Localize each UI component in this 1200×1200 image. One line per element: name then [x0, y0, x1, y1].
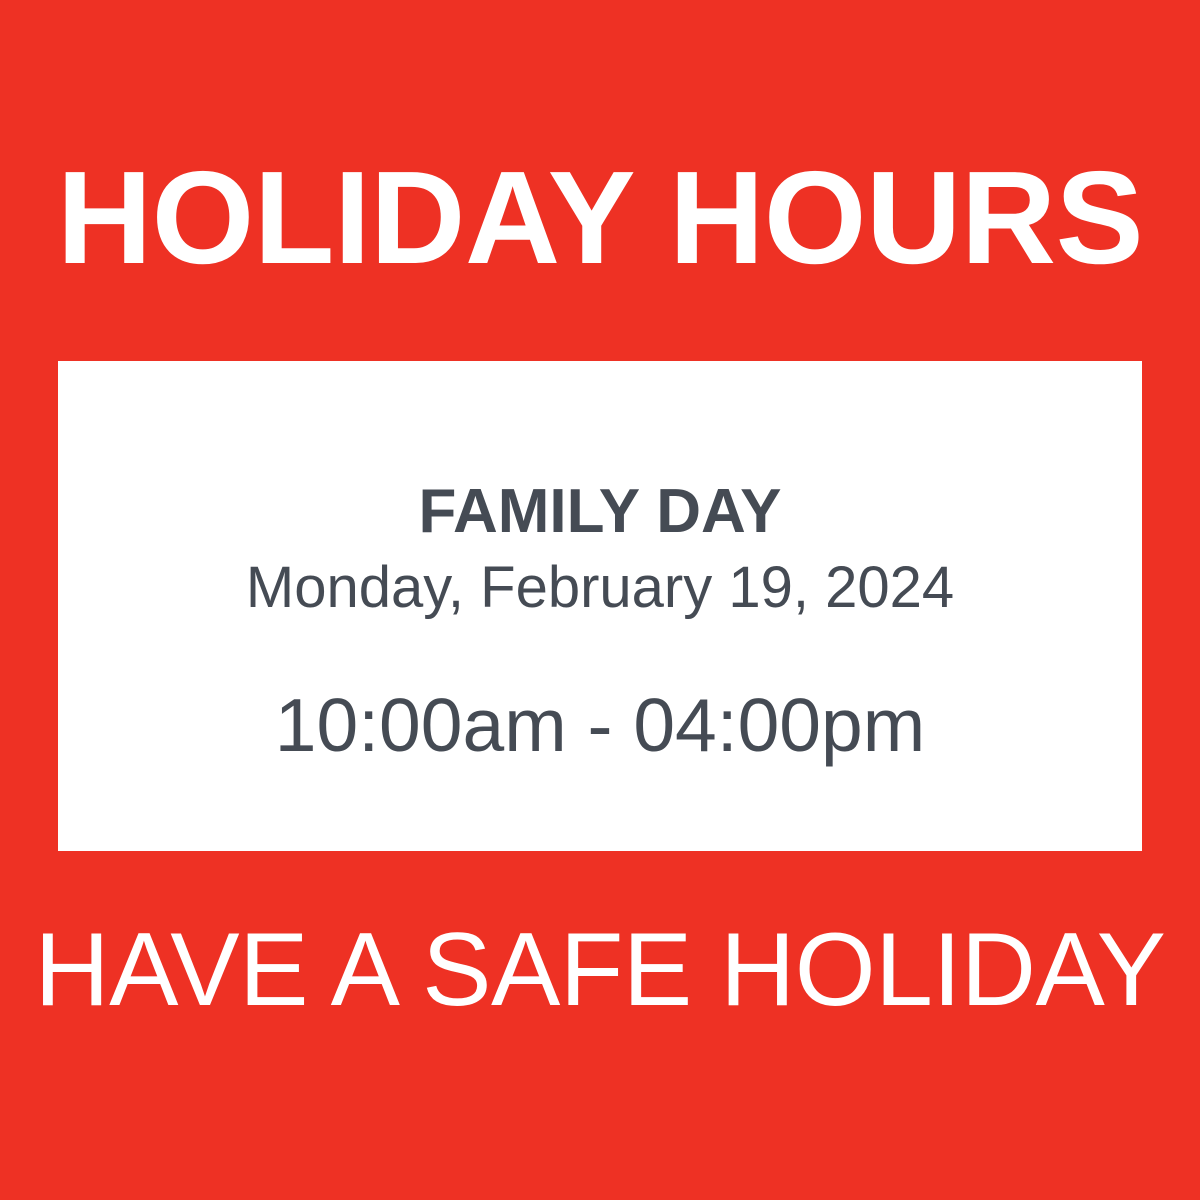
holiday-details-card: FAMILY DAY Monday, February 19, 2024 10:… — [58, 361, 1142, 851]
holiday-name: FAMILY DAY — [58, 479, 1142, 546]
holiday-hours-notice: HOLIDAY HOURS FAMILY DAY Monday, Februar… — [0, 0, 1200, 1200]
page-title: HOLIDAY HOURS — [0, 152, 1200, 284]
holiday-hours-range: 10:00am - 04:00pm — [58, 684, 1142, 767]
safe-holiday-message: HAVE A SAFE HOLIDAY — [0, 918, 1200, 1022]
holiday-details-content: FAMILY DAY Monday, February 19, 2024 10:… — [58, 479, 1142, 767]
holiday-date: Monday, February 19, 2024 — [58, 554, 1142, 622]
